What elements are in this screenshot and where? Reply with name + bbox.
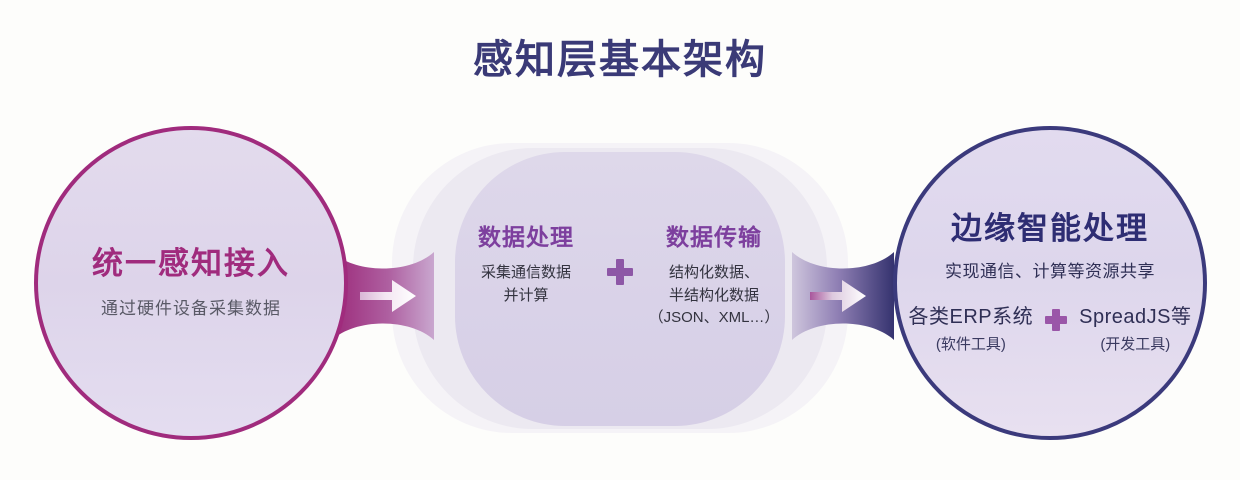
middle-column-line: 半结构化数据 xyxy=(649,285,780,308)
plus-icon xyxy=(607,259,633,285)
middle-node-content: 数据处理 采集通信数据 并计算 数据传输 结构化数据、 半结构化数据 （JSON… xyxy=(455,224,785,330)
right-tool-name: 各类ERP系统 xyxy=(909,300,1034,329)
node-left-circle[interactable]: 统一感知接入 通过硬件设备采集数据 xyxy=(34,126,348,440)
right-tool-spreadjs[interactable]: SpreadJS等 (开发工具) xyxy=(1079,300,1191,354)
middle-column-data-processing[interactable]: 数据处理 采集通信数据 并计算 xyxy=(455,224,597,307)
page-title: 感知层基本架构 xyxy=(0,36,1240,84)
middle-separator xyxy=(607,224,633,320)
right-node-tools: 各类ERP系统 (软件工具) SpreadJS等 (开发工具) xyxy=(909,300,1192,354)
left-node-subtitle: 通过硬件设备采集数据 xyxy=(101,294,281,319)
middle-column-line: （JSON、XML…） xyxy=(649,307,780,330)
right-tool-name: SpreadJS等 xyxy=(1079,300,1191,329)
right-node-subtitle: 实现通信、计算等资源共享 xyxy=(945,257,1155,282)
middle-column-line: 结构化数据、 xyxy=(649,262,780,285)
right-node-title: 边缘智能处理 xyxy=(951,212,1149,246)
right-tool-note: (开发工具) xyxy=(1100,333,1170,354)
middle-column-lines: 采集通信数据 并计算 xyxy=(481,262,571,307)
middle-column-line: 采集通信数据 xyxy=(481,262,571,285)
connector-middle-to-right xyxy=(790,248,896,344)
right-tool-note: (软件工具) xyxy=(936,333,1006,354)
plus-icon xyxy=(1045,309,1067,331)
middle-column-lines: 结构化数据、 半结构化数据 （JSON、XML…） xyxy=(649,262,780,330)
architecture-diagram: 感知层基本架构 xyxy=(0,0,1240,480)
node-right-circle[interactable]: 边缘智能处理 实现通信、计算等资源共享 各类ERP系统 (软件工具) Sprea… xyxy=(893,126,1207,440)
middle-column-title: 数据处理 xyxy=(478,224,574,250)
middle-column-data-transfer[interactable]: 数据传输 结构化数据、 半结构化数据 （JSON、XML…） xyxy=(643,224,785,330)
middle-column-line: 并计算 xyxy=(481,285,571,308)
right-tool-erp[interactable]: 各类ERP系统 (软件工具) xyxy=(909,300,1034,354)
middle-column-title: 数据传输 xyxy=(666,224,762,250)
left-node-title: 统一感知接入 xyxy=(92,247,290,281)
